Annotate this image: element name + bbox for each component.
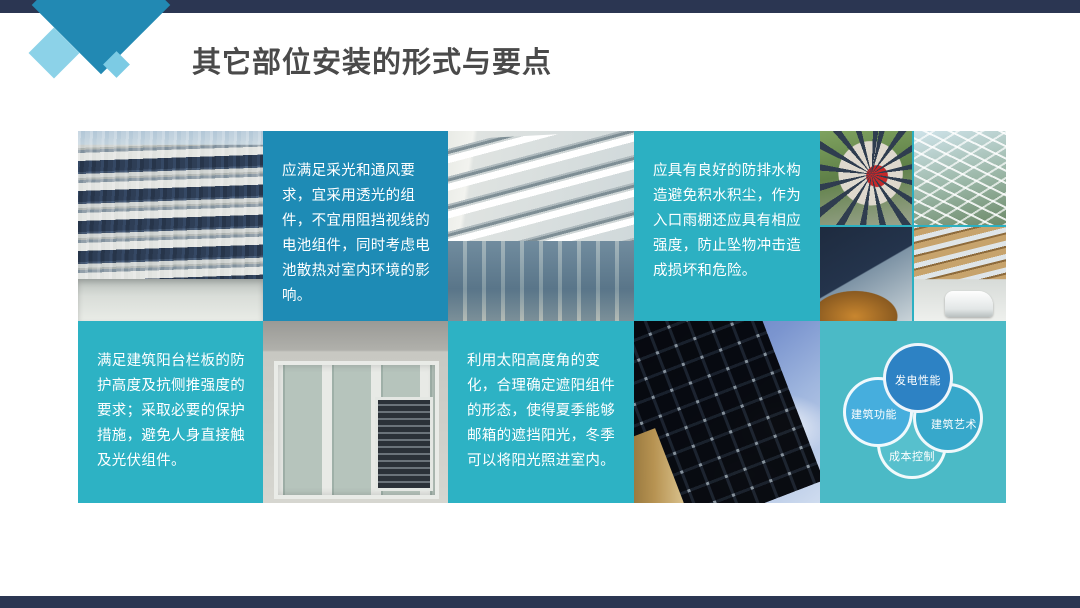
bottom-navy-rail: [0, 596, 1080, 608]
venn-circles-group: 成本控制 建筑艺术 建筑功能 发电性能: [839, 343, 987, 481]
photo-curtain-wall-louvers: [448, 131, 634, 321]
content-grid: 应满足采光和通风要求，宜采用透光的组件，不宜用阻挡视线的电池组件，同时考虑电池散…: [78, 131, 1006, 503]
venn-label-building-function: 建筑功能: [851, 406, 897, 422]
text-panel-solar-altitude-shading: 利用太阳高度角的变化，合理确定遮阳组件的形态，使得夏季能够邮箱的遮挡阳光，冬季可…: [448, 321, 634, 503]
text-panel-balcony-railing-safety: 满足建筑阳台栏板的防护高度及抗侧推强度的要求；采取必要的保护措施，避免人身直接触…: [78, 321, 263, 503]
photo-pv-carport: [914, 227, 1006, 321]
text-panel-drainage-canopy: 应具有良好的防排水构造避免积水积尘，作为入口雨棚还应具有相应强度，防止坠物冲击造…: [634, 131, 820, 321]
photo-sundial-pv-sculpture: [820, 131, 912, 225]
venn-circle-power-generation: 发电性能: [883, 343, 953, 413]
photo-interior-window-wall: [263, 321, 448, 503]
slide-canvas: 其它部位安装的形式与要点 应满足采光和通风要求，宜采用透光的组件，不宜用阻挡视线…: [0, 0, 1080, 608]
venn-diagram-design-factors: 成本控制 建筑艺术 建筑功能 发电性能: [820, 321, 1006, 503]
photo-wing-shaped-pavilion: [820, 227, 912, 321]
photo-balcony-pv-apartment: [78, 131, 263, 321]
photo-collage-canopy-structures: [820, 131, 1006, 321]
venn-label-architectural-art: 建筑艺术: [931, 416, 977, 432]
page-title: 其它部位安装的形式与要点: [192, 39, 552, 81]
photo-membrane-canopy: [914, 131, 1006, 225]
photo-solar-array-sky: [634, 321, 820, 503]
text-panel-daylight-ventilation: 应满足采光和通风要求，宜采用透光的组件，不宜用阻挡视线的电池组件，同时考虑电池散…: [263, 131, 448, 321]
venn-label-cost-control: 成本控制: [889, 448, 935, 464]
venn-label-power-generation: 发电性能: [895, 372, 941, 388]
